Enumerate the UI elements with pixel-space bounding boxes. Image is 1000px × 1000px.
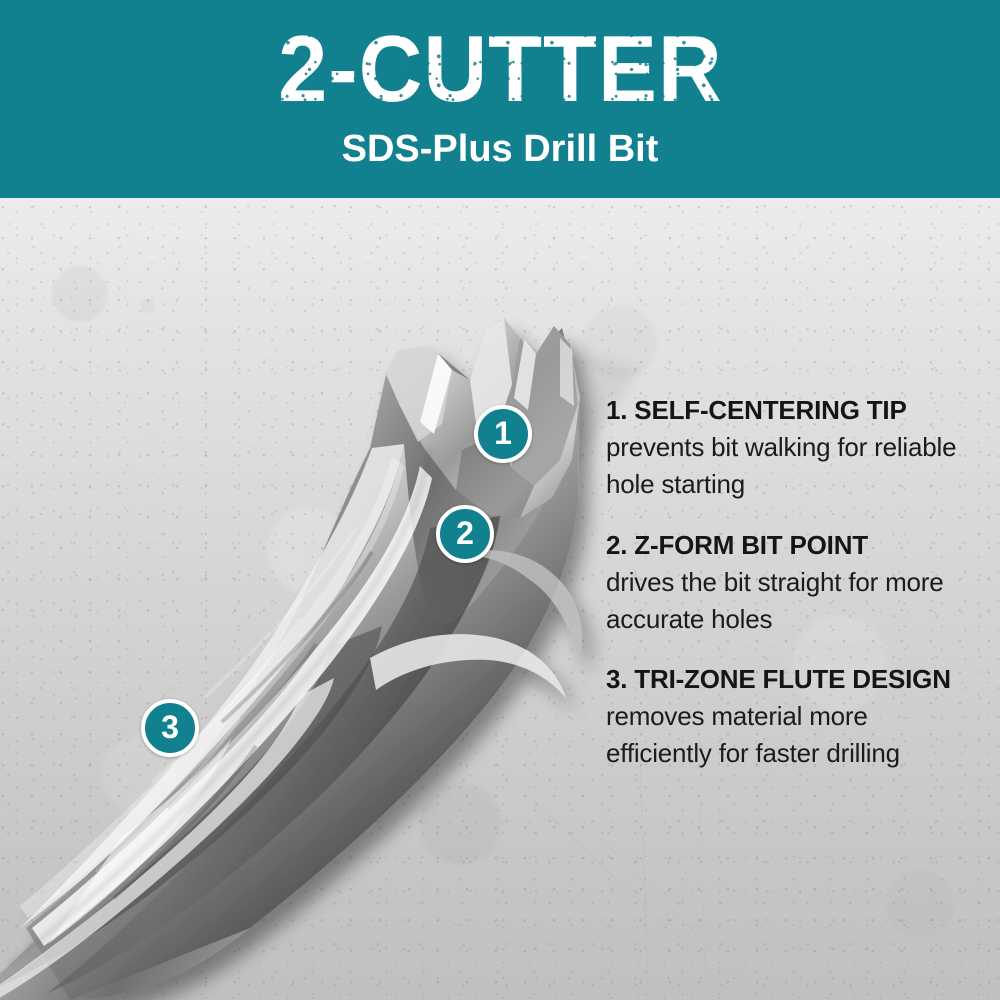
- feature-block-1: 1. SELF-CENTERING TIP prevents bit walki…: [606, 392, 968, 503]
- product-infographic: 1 2 3 2-CUTTER SDS-Plus Drill Bit 1. SEL…: [0, 0, 1000, 1000]
- callout-badge-2[interactable]: 2: [436, 505, 494, 563]
- feature-3-heading: 3. TRI-ZONE FLUTE DESIGN: [606, 661, 968, 698]
- callout-badge-1-number: 1: [494, 417, 512, 449]
- feature-1-heading: 1. SELF-CENTERING TIP: [606, 392, 968, 429]
- main-title-wrap: 2-CUTTER: [264, 0, 737, 116]
- main-title: 2-CUTTER: [278, 22, 722, 116]
- feature-2-body: drives the bit straight for more accurat…: [606, 564, 968, 638]
- callout-badge-1[interactable]: 1: [474, 405, 532, 463]
- feature-list: 1. SELF-CENTERING TIP prevents bit walki…: [606, 392, 968, 772]
- sub-title: SDS-Plus Drill Bit: [342, 130, 659, 168]
- feature-1-body: prevents bit walking for reliable hole s…: [606, 429, 968, 503]
- feature-3-body: removes material more efficiently for fa…: [606, 698, 968, 772]
- callout-badge-3[interactable]: 3: [141, 699, 199, 757]
- feature-block-2: 2. Z-FORM BIT POINT drives the bit strai…: [606, 527, 968, 638]
- feature-block-3: 3. TRI-ZONE FLUTE DESIGN removes materia…: [606, 661, 968, 772]
- feature-2-heading: 2. Z-FORM BIT POINT: [606, 527, 968, 564]
- header-band: 2-CUTTER SDS-Plus Drill Bit: [0, 0, 1000, 198]
- callout-badge-3-number: 3: [161, 711, 179, 743]
- callout-badge-2-number: 2: [456, 517, 474, 549]
